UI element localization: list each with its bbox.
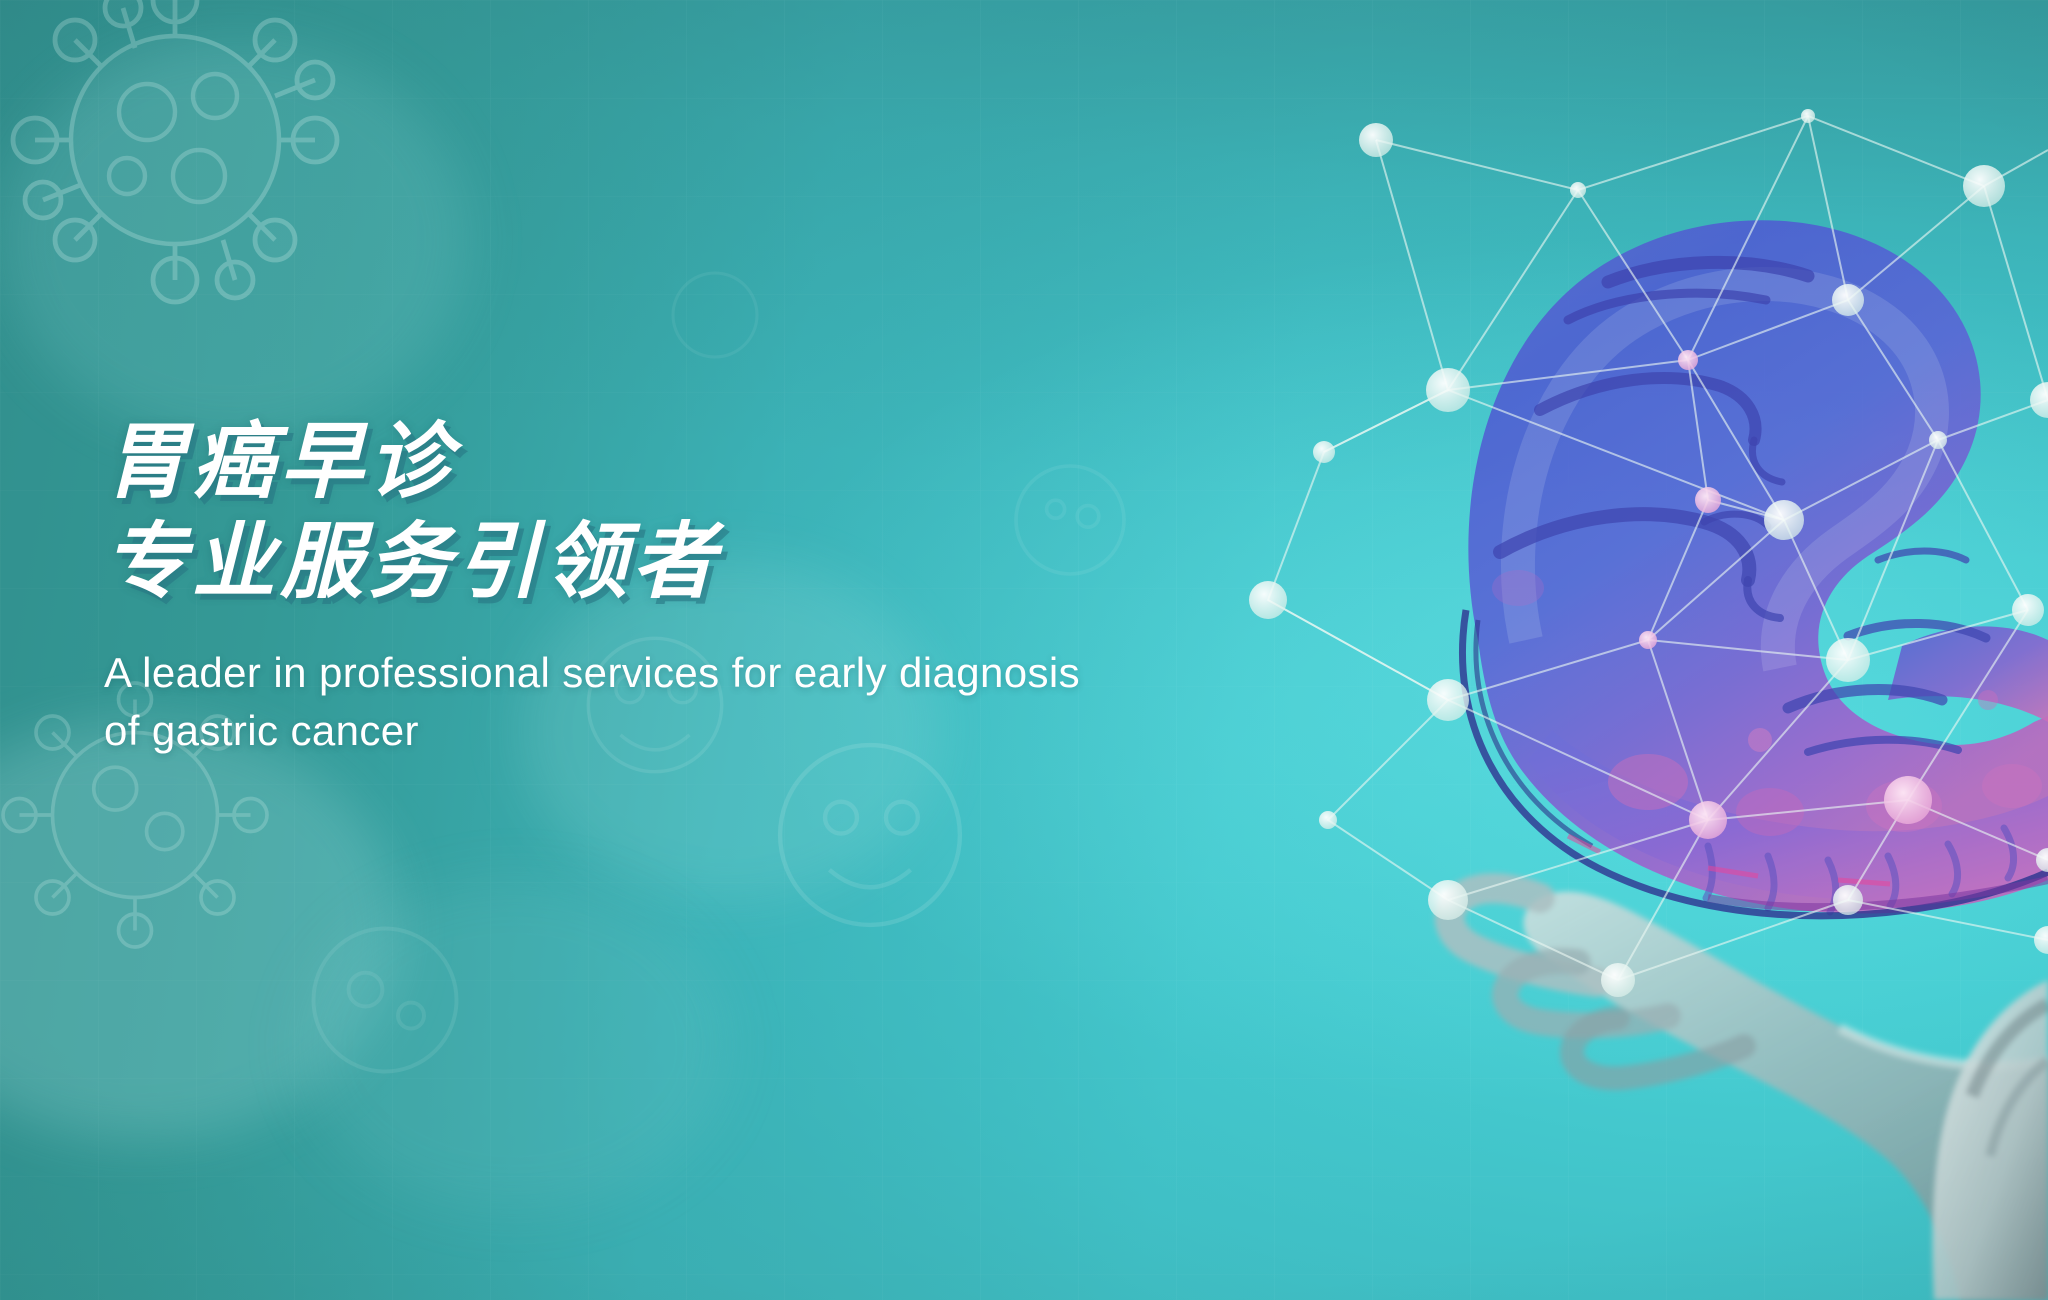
hero-copy: 胃癌早诊 专业服务引领者 A leader in professional se… [104,418,1134,760]
banner-hero: 胃癌早诊 专业服务引领者 A leader in professional se… [0,0,2048,1300]
page-subtitle: A leader in professional services for ea… [104,644,1114,760]
headline-line-2: 专业服务引领者 [104,518,1134,606]
page-title: 胃癌早诊 专业服务引领者 [104,418,1134,606]
headline-line-1: 胃癌早诊 [104,415,456,508]
